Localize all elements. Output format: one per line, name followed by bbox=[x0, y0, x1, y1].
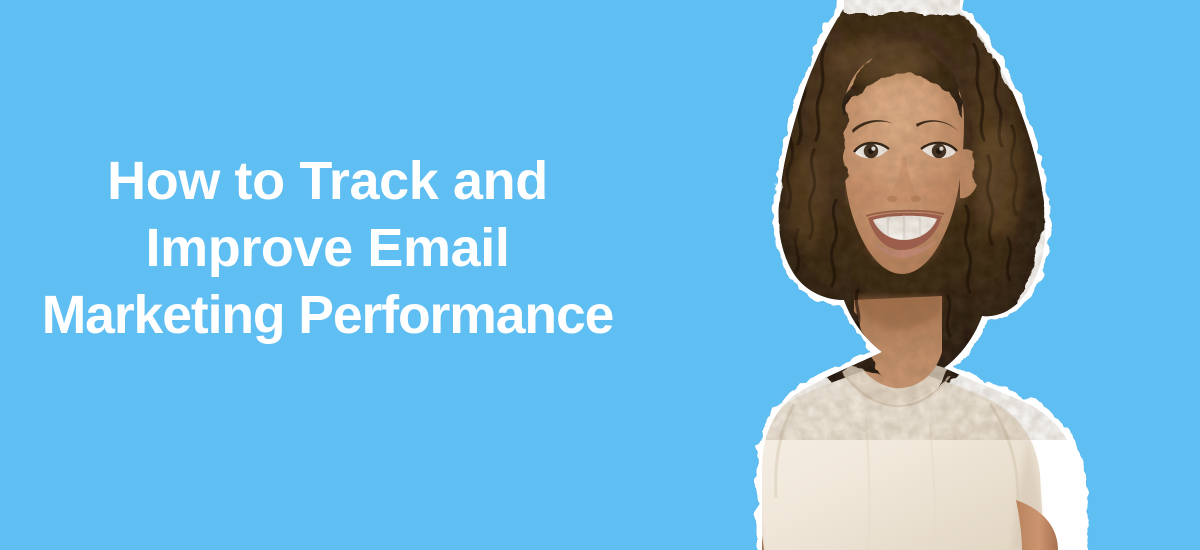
person-photo bbox=[630, 0, 1150, 550]
headline-line-2: Improve Email bbox=[0, 215, 655, 282]
email-marketing-banner: How to Track and Improve Email Marketing… bbox=[0, 0, 1200, 550]
headline-line-3: Marketing Performance bbox=[0, 282, 655, 349]
page-title: How to Track and Improve Email Marketing… bbox=[0, 148, 655, 349]
headline-line-1: How to Track and bbox=[0, 148, 655, 215]
